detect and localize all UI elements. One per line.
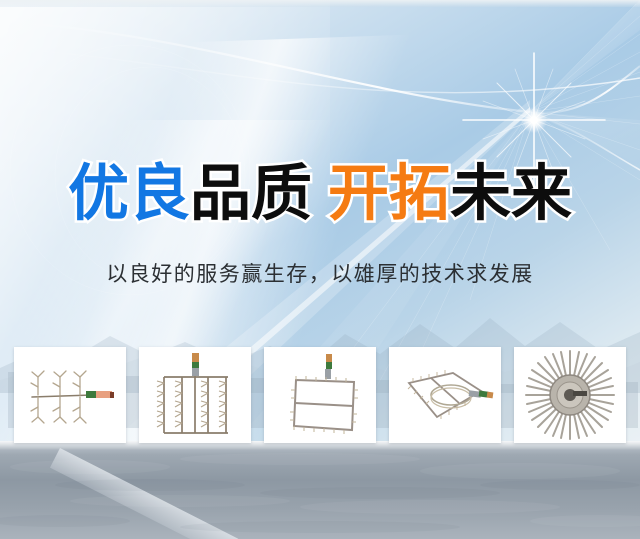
double-row-spike-tool-icon (150, 351, 240, 439)
promo-banner: 优良品质开拓未来 以良好的服务赢生存，以雄厚的技术求发展 (0, 0, 640, 539)
headline-part-black-2: 未来 (450, 159, 572, 227)
radial-spike-disc-icon (523, 348, 617, 442)
page-subtitle: 以良好的服务赢生存，以雄厚的技术求发展 (0, 258, 640, 288)
product-card-ring-frame-tool[interactable] (389, 347, 501, 443)
product-card-list (14, 347, 626, 443)
ring-frame-tool-icon (395, 357, 495, 433)
product-card-radial-spike-disc[interactable] (514, 347, 626, 443)
headline-part-black-1: 品质 (190, 159, 312, 227)
comb-anchor-tool-icon (20, 355, 120, 435)
product-card-rectangular-frame-tool[interactable] (264, 347, 376, 443)
headline-part-blue: 优良 (68, 159, 190, 227)
product-card-comb-anchor-tool[interactable] (14, 347, 126, 443)
product-card-double-row-spike-tool[interactable] (139, 347, 251, 443)
ground-texture (0, 441, 640, 539)
page-title: 优良品质开拓未来 (0, 163, 640, 224)
rectangular-frame-tool-icon (274, 352, 366, 438)
headline-part-orange: 开拓 (328, 159, 450, 227)
